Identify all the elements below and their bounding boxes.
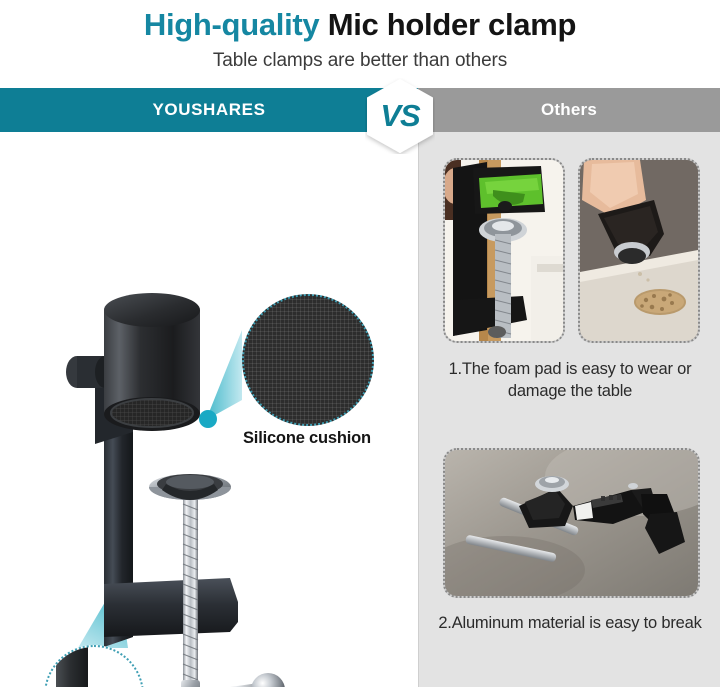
comparison-header-bar: YOUSHARES Others <box>0 88 720 132</box>
product-illustration: Silicone cushion <box>0 132 418 687</box>
brand-column-label: YOUSHARES <box>0 88 418 132</box>
photo-2-art <box>580 160 698 341</box>
caption-aluminum-breaks: 2.Aluminum material is easy to break <box>430 612 710 634</box>
photo-broken-aluminum-parts <box>443 448 700 598</box>
page-subtitle: Table clamps are better than others <box>0 44 720 73</box>
label-silicone-cushion: Silicone cushion <box>243 429 371 448</box>
t-bar-ball-right <box>251 673 285 687</box>
others-column-label: Others <box>418 88 720 132</box>
infographic-page: High-quality Mic holder clamp Table clam… <box>0 0 720 687</box>
title-block: High-quality Mic holder clamp Table clam… <box>0 0 720 88</box>
photo-1-art <box>445 160 563 341</box>
vs-label: VS <box>365 78 435 154</box>
photo-worn-foam-on-table <box>578 158 700 343</box>
page-title: High-quality Mic holder clamp <box>0 0 720 44</box>
inset-silicone-cushion <box>242 294 374 426</box>
vs-badge: VS <box>365 78 435 154</box>
title-rest: Mic holder clamp <box>328 7 576 42</box>
callout-wedge-silicone <box>206 330 242 420</box>
photo-clamp-green-foam-pad <box>443 158 565 343</box>
photo-3-art <box>445 450 698 596</box>
callout-dot-silicone <box>199 410 217 428</box>
silicone-mesh-texture <box>244 296 372 424</box>
caption-foam-pad-damage: 1.The foam pad is easy to wear or damage… <box>430 358 710 402</box>
title-accent: High-quality <box>144 7 320 42</box>
brand-panel: Silicone cushion <box>0 132 418 687</box>
